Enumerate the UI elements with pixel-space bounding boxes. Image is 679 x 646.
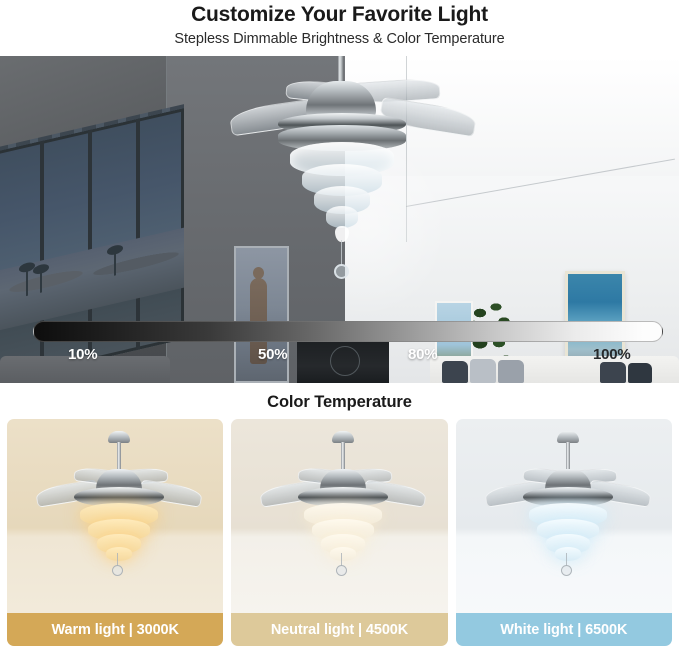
pull-chain-knob <box>561 565 572 576</box>
crystal-tier <box>330 547 356 561</box>
pull-chain-knob <box>336 565 347 576</box>
crystal-tier <box>555 547 581 561</box>
page-title: Customize Your Favorite Light <box>0 2 679 28</box>
crystal-tier <box>326 206 358 228</box>
panel-neutral-light[interactable]: Neutral light | 4500K <box>231 419 447 646</box>
downrod <box>117 442 121 472</box>
panel-label-white: White light | 6500K <box>456 613 672 646</box>
ceiling-fan-chandelier <box>284 56 474 336</box>
brightness-tick-100: 100% <box>593 345 631 365</box>
palm-tree <box>114 252 116 275</box>
downrod <box>341 442 345 472</box>
brightness-slider-group: 10% 50% 80% 100% <box>0 311 679 383</box>
crystal-tier <box>106 547 132 561</box>
ceiling-fan-warm <box>40 429 190 579</box>
palm-tree <box>40 271 42 292</box>
color-temperature-panels: Warm light | 3000K Neutral light | 4500K <box>0 419 679 646</box>
brightness-tick-50: 50% <box>258 345 287 365</box>
hero-brightness-comparison-image: 10% 50% 80% 100% <box>0 56 679 383</box>
pull-chain-knob <box>334 264 349 279</box>
crystal-drop <box>335 226 349 242</box>
panel-warm-light[interactable]: Warm light | 3000K <box>7 419 223 646</box>
pull-chain <box>341 240 342 266</box>
page-header: Customize Your Favorite Light Stepless D… <box>0 0 679 56</box>
brightness-slider[interactable] <box>33 321 663 342</box>
pull-chain-knob <box>112 565 123 576</box>
ceiling-fan-neutral <box>264 429 414 579</box>
brightness-tick-labels: 10% 50% 80% 100% <box>0 345 679 369</box>
brightness-tick-10: 10% <box>68 345 97 365</box>
palm-tree <box>26 270 28 296</box>
ceiling-fan-white <box>489 429 639 579</box>
page-subtitle: Stepless Dimmable Brightness & Color Tem… <box>0 28 679 50</box>
panel-label-warm: Warm light | 3000K <box>7 613 223 646</box>
downrod <box>566 442 570 472</box>
panel-label-neutral: Neutral light | 4500K <box>231 613 447 646</box>
brightness-tick-80: 80% <box>408 345 437 365</box>
color-temperature-heading: Color Temperature <box>0 383 679 419</box>
panel-white-light[interactable]: White light | 6500K <box>456 419 672 646</box>
